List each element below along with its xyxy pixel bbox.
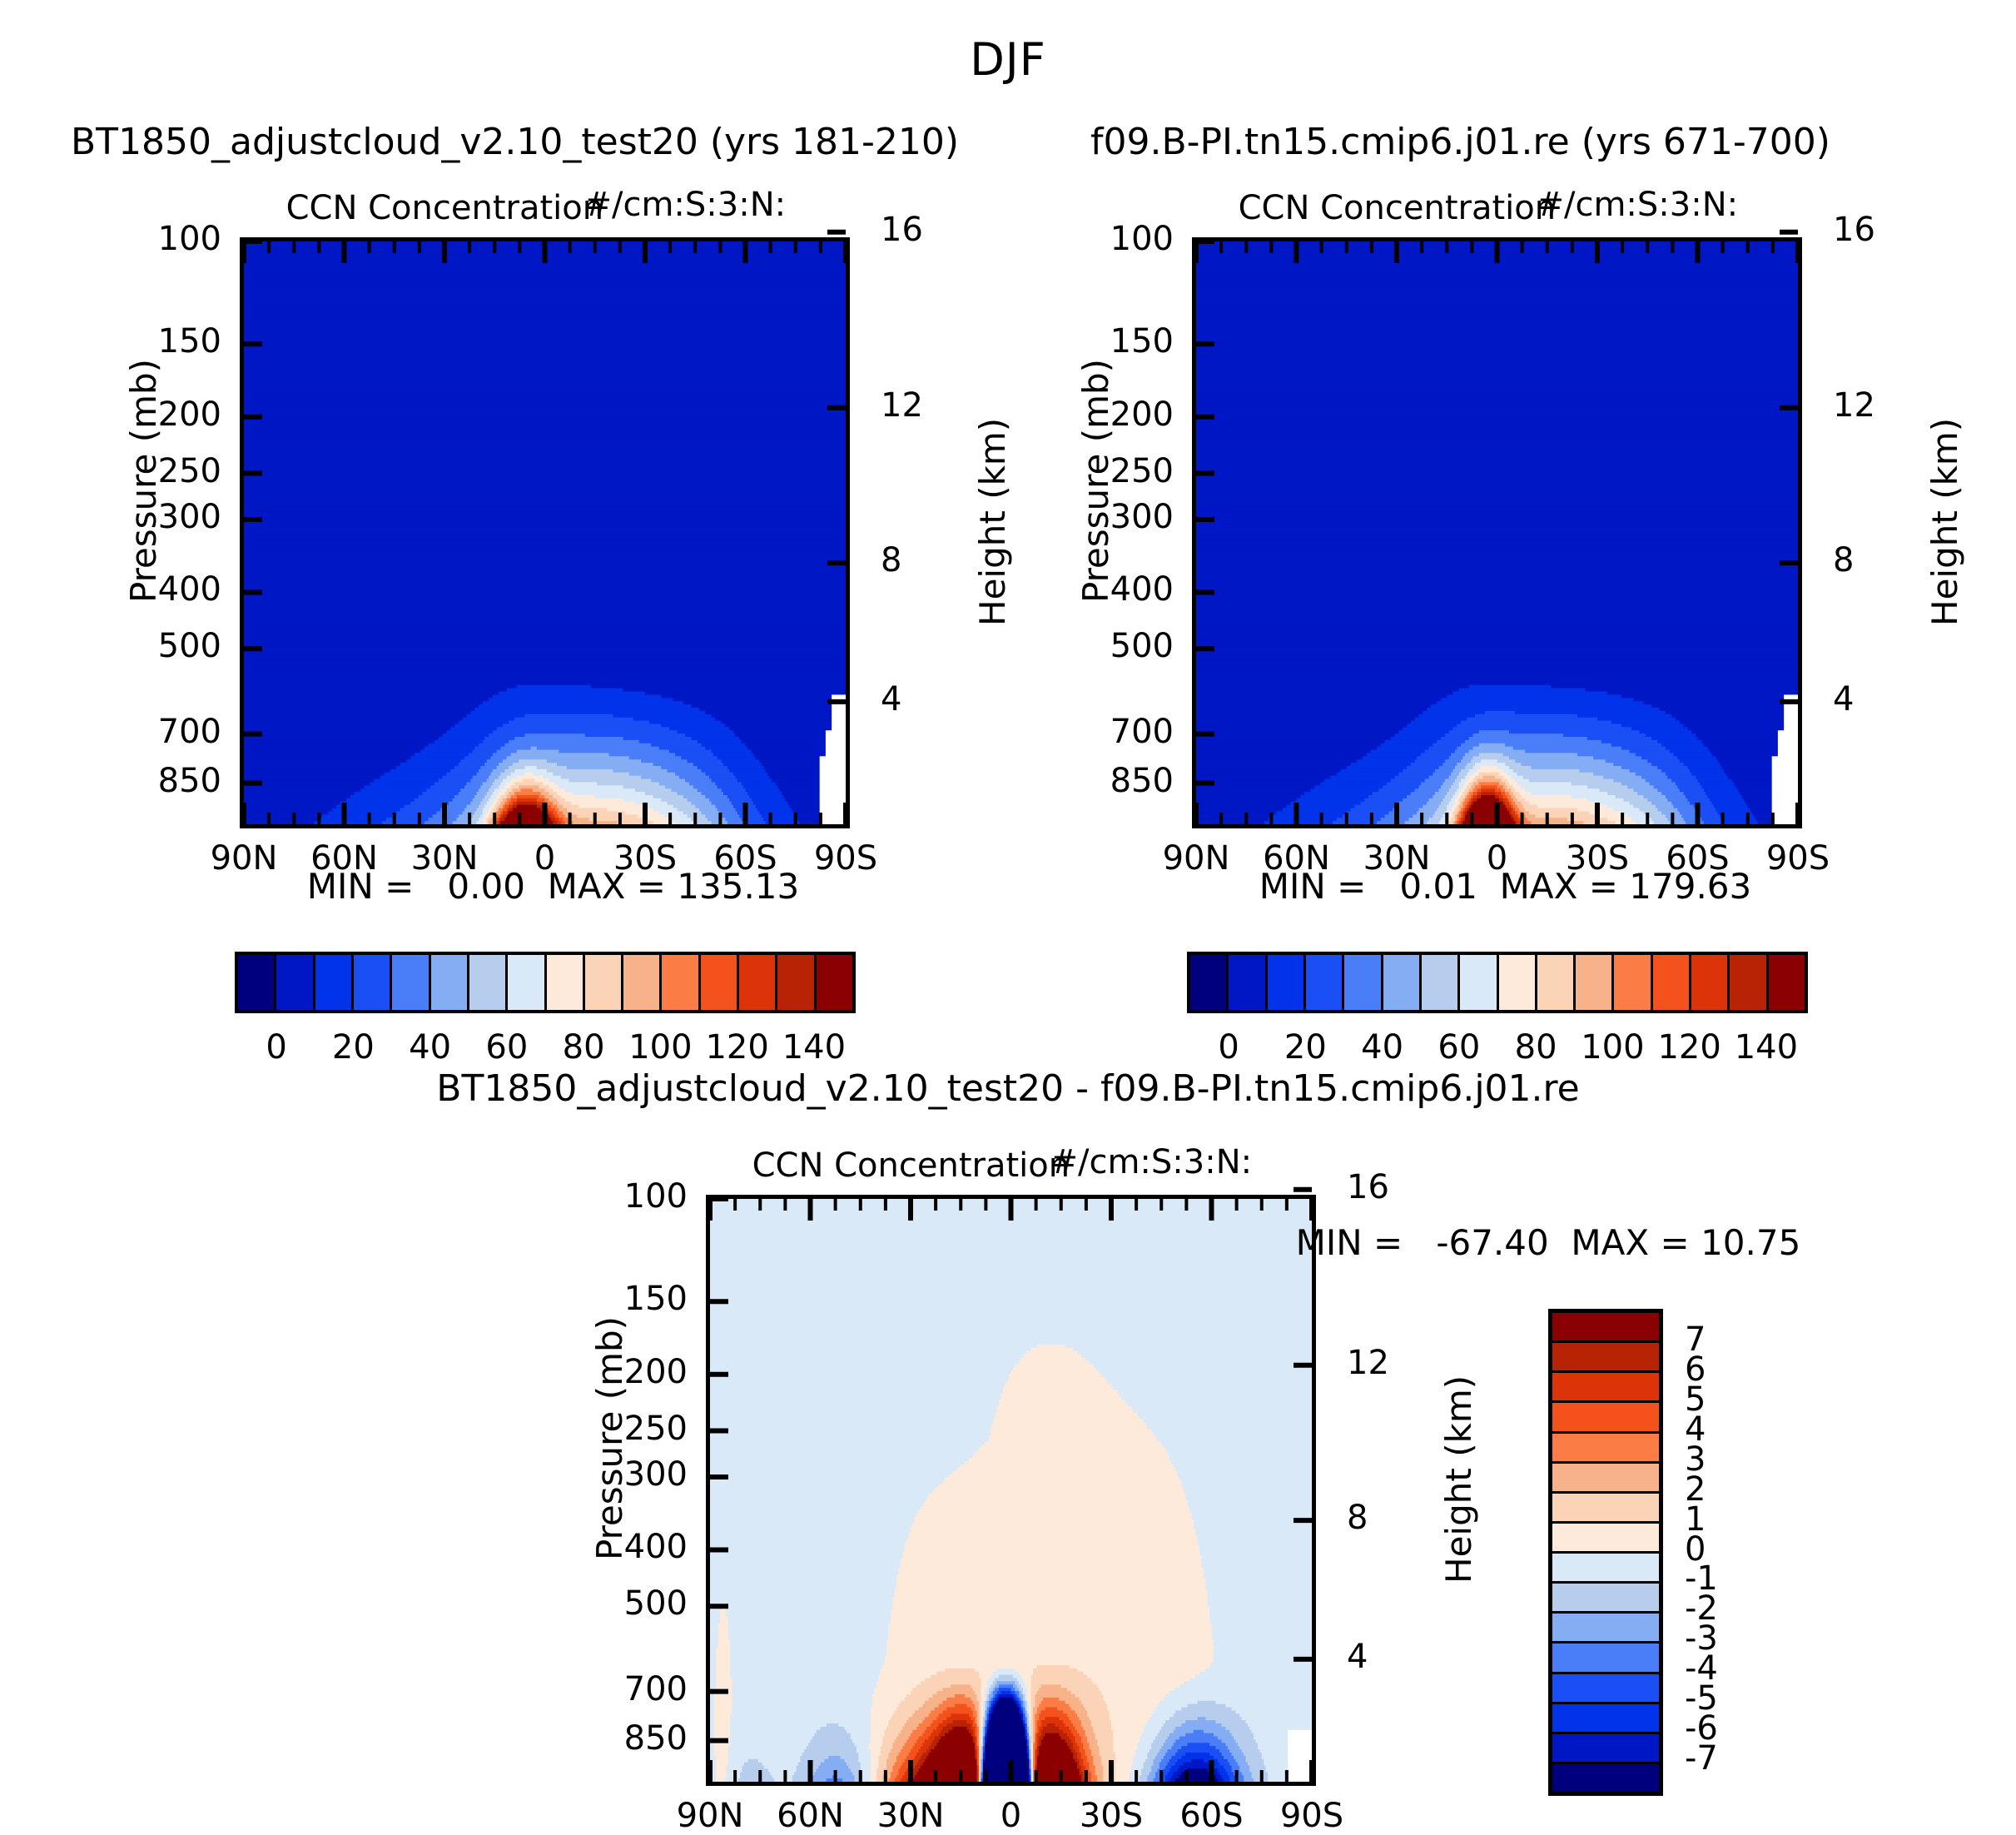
diff-colorbar-swatch — [1552, 1674, 1659, 1704]
diff-colorbar-swatch — [1552, 1614, 1659, 1644]
main-colorbar-right-swatch — [1383, 955, 1422, 1010]
right-plot-pressure-tick: 300 — [1110, 498, 1174, 536]
diff-colorbar-swatch — [1552, 1704, 1659, 1734]
main-colorbar-left-tick: 80 — [563, 1028, 605, 1067]
main-colorbar-left-swatch — [585, 955, 623, 1010]
left-plot — [240, 237, 850, 828]
diff-plot-pressure-tick: 850 — [624, 1719, 688, 1758]
left-plot-height-tick: 4 — [881, 680, 901, 719]
diff-colorbar-swatch — [1552, 1554, 1659, 1584]
main-colorbar-left[interactable] — [235, 952, 856, 1013]
main-colorbar-right-swatch — [1422, 955, 1460, 1010]
main-colorbar-right-swatch — [1229, 955, 1267, 1010]
main-colorbar-left-tick: 60 — [485, 1028, 528, 1067]
diff-panel-title: BT1850_adjustcloud_v2.10_test20 - f09.B-… — [0, 1067, 2016, 1110]
main-colorbar-left-swatch — [547, 955, 585, 1010]
right-minmax-max-value: 179.63 — [1629, 866, 1751, 907]
diff-colorbar-swatch — [1552, 1734, 1659, 1764]
main-colorbar-left-swatch — [276, 955, 315, 1010]
diff-minmax-min-value: -67.40 — [1436, 1222, 1548, 1263]
diff-colorbar-swatch — [1552, 1644, 1659, 1673]
left-plot-pressure-tick: 200 — [158, 395, 221, 434]
main-colorbar-right-tick: 140 — [1735, 1028, 1798, 1067]
left-plot-lat-tick: 90N — [211, 839, 278, 878]
main-colorbar-right-tick: 20 — [1284, 1028, 1327, 1067]
main-colorbar-right-swatch — [1499, 955, 1537, 1010]
diff-plot-lat-tick: 30S — [1080, 1797, 1143, 1835]
main-colorbar-right-swatch — [1653, 955, 1691, 1010]
right-plot-height-tick: 8 — [1833, 541, 1854, 579]
diff-plot-height-tick: 4 — [1347, 1638, 1368, 1676]
left-plot-height-axis-label: Height (km) — [972, 418, 1013, 626]
right-plot-pressure-tick: 850 — [1110, 762, 1174, 800]
diff-colorbar-swatch — [1552, 1373, 1659, 1403]
main-colorbar-right-swatch — [1537, 955, 1576, 1010]
main-colorbar-right-tick: 100 — [1581, 1028, 1644, 1067]
left-plot-height-tick: 16 — [881, 211, 923, 249]
right-plot-pressure-tick: 700 — [1110, 713, 1174, 751]
right-plot-pressure-tick: 500 — [1110, 627, 1174, 665]
main-colorbar-left-swatch — [739, 955, 777, 1010]
diff-plot-lat-tick: 30N — [877, 1797, 945, 1835]
main-colorbar-right-swatch — [1460, 955, 1498, 1010]
diff-colorbar-swatch — [1552, 1313, 1659, 1343]
main-colorbar-left-swatch — [623, 955, 662, 1010]
figure-title: DJF — [0, 33, 2016, 86]
main-colorbar-right-swatch — [1691, 955, 1730, 1010]
diff-plot-lat-tick: 60S — [1179, 1797, 1243, 1835]
diff-plot-lat-tick: 60N — [777, 1797, 844, 1835]
diff-plot-variable-label: CCN Concentration — [752, 1146, 1070, 1185]
left-plot-height-tick: 8 — [881, 541, 901, 579]
diff-colorbar-swatch — [1552, 1343, 1659, 1373]
right-plot-height-tick: 12 — [1833, 386, 1875, 425]
main-colorbar-left-swatch — [354, 955, 392, 1010]
diff-minmax: MIN = -67.40 MAX = 10.75 — [1296, 1222, 1801, 1263]
main-colorbar-right-swatch — [1730, 955, 1768, 1010]
right-plot-pressure-tick: 200 — [1110, 395, 1174, 434]
left-plot-pressure-tick: 150 — [158, 322, 221, 361]
diff-colorbar[interactable] — [1548, 1309, 1663, 1796]
left-plot-pressure-tick: 850 — [158, 762, 221, 800]
diff-plot-pressure-tick: 400 — [624, 1528, 688, 1566]
diff-colorbar-swatch — [1552, 1494, 1659, 1524]
right-plot-variable-label: CCN Concentration — [1239, 189, 1556, 227]
diff-colorbar-swatch — [1552, 1434, 1659, 1464]
right-plot-lat-tick: 90N — [1163, 839, 1230, 878]
diff-plot-pressure-tick: 100 — [624, 1177, 688, 1216]
main-colorbar-left-tick: 20 — [332, 1028, 375, 1067]
diff-plot-pressure-tick: 300 — [624, 1455, 688, 1494]
main-colorbar-right-tick: 80 — [1515, 1028, 1557, 1067]
left-plot-pressure-tick: 250 — [158, 452, 221, 490]
diff-plot-pressure-tick: 200 — [624, 1353, 688, 1391]
main-colorbar-right-tick: 40 — [1361, 1028, 1403, 1067]
diff-colorbar-swatch — [1552, 1764, 1659, 1792]
left-plot-pressure-tick: 500 — [158, 627, 221, 665]
left-plot-lat-tick: 90S — [814, 839, 877, 878]
main-colorbar-left-swatch — [431, 955, 469, 1010]
diff-plot-height-tick: 16 — [1347, 1168, 1389, 1206]
diff-plot-pressure-tick: 250 — [624, 1410, 688, 1448]
diff-colorbar-swatch — [1552, 1464, 1659, 1494]
main-colorbar-left-swatch — [817, 955, 852, 1010]
diff-plot-lat-tick: 90N — [677, 1797, 744, 1835]
diff-minmax-min-label: MIN = — [1296, 1222, 1403, 1263]
main-colorbar-left-swatch — [777, 955, 816, 1010]
main-colorbar-right-swatch — [1306, 955, 1344, 1010]
left-panel-title: BT1850_adjustcloud_v2.10_test20 (yrs 181… — [71, 121, 959, 163]
right-minmax: MIN = 0.01 MAX = 179.63 — [1259, 866, 1752, 907]
diff-minmax-max-label: MAX = — [1571, 1222, 1689, 1263]
left-minmax: MIN = 0.00 MAX = 135.13 — [307, 866, 800, 907]
right-plot-pressure-tick: 100 — [1110, 220, 1174, 258]
right-plot-height-tick: 4 — [1833, 680, 1854, 719]
main-colorbar-left-swatch — [315, 955, 354, 1010]
left-plot-units-label: #/cm:S:3:N: — [583, 186, 786, 224]
diff-colorbar-tick: -7 — [1685, 1739, 1718, 1778]
right-plot-units-label: #/cm:S:3:N: — [1536, 186, 1738, 224]
main-colorbar-right-swatch — [1614, 955, 1652, 1010]
right-plot-height-axis-label: Height (km) — [1924, 418, 1965, 626]
diff-minmax-max-value: 10.75 — [1701, 1222, 1800, 1263]
main-colorbar-right-swatch — [1190, 955, 1229, 1010]
main-colorbar-left-tick: 0 — [266, 1028, 286, 1067]
main-colorbar-left-swatch — [662, 955, 700, 1010]
diff-plot-height-axis-label: Height (km) — [1438, 1375, 1479, 1584]
main-colorbar-right-swatch — [1576, 955, 1614, 1010]
diff-colorbar-swatch — [1552, 1403, 1659, 1433]
main-colorbar-right-tick: 120 — [1657, 1028, 1721, 1067]
diff-plot-pressure-tick: 700 — [624, 1670, 688, 1708]
left-minmax-max-label: MAX = — [548, 866, 666, 907]
main-colorbar-left-swatch — [392, 955, 430, 1010]
diff-plot-units-label: #/cm:S:3:N: — [1050, 1143, 1252, 1181]
main-colorbar-right-tick: 60 — [1438, 1028, 1480, 1067]
right-plot-pressure-tick: 250 — [1110, 452, 1174, 490]
right-panel-title: f09.B-PI.tn15.cmip6.j01.re (yrs 671-700) — [1090, 121, 1830, 163]
diff-plot-pressure-tick: 500 — [624, 1584, 688, 1623]
left-minmax-max-value: 135.13 — [677, 866, 799, 907]
main-colorbar-right-swatch — [1769, 955, 1805, 1010]
main-colorbar-left-swatch — [469, 955, 508, 1010]
main-colorbar-right-tick: 0 — [1218, 1028, 1239, 1067]
left-plot-pressure-tick: 700 — [158, 713, 221, 751]
diff-plot-pressure-tick: 150 — [624, 1280, 688, 1318]
diff-plot — [706, 1195, 1316, 1786]
main-colorbar-right[interactable] — [1187, 952, 1808, 1013]
diff-plot-lat-tick: 90S — [1280, 1797, 1343, 1835]
left-plot-pressure-tick: 100 — [158, 220, 221, 258]
main-colorbar-right-swatch — [1344, 955, 1383, 1010]
left-plot-height-tick: 12 — [881, 386, 923, 425]
diff-plot-pressure-axis-label: Pressure (mb) — [589, 1316, 630, 1560]
diff-plot-height-tick: 8 — [1347, 1499, 1368, 1537]
diff-plot-height-tick: 12 — [1347, 1344, 1389, 1382]
diff-colorbar-swatch — [1552, 1524, 1659, 1554]
right-minmax-max-label: MAX = — [1500, 866, 1618, 907]
right-plot-pressure-tick: 400 — [1110, 570, 1174, 609]
left-plot-variable-label: CCN Concentration — [286, 189, 603, 227]
left-plot-pressure-tick: 300 — [158, 498, 221, 536]
left-plot-pressure-tick: 400 — [158, 570, 221, 609]
main-colorbar-left-swatch — [238, 955, 276, 1010]
main-colorbar-left-swatch — [508, 955, 546, 1010]
right-plot-height-tick: 16 — [1833, 211, 1875, 249]
main-colorbar-left-tick: 100 — [628, 1028, 692, 1067]
left-plot-pressure-axis-label: Pressure (mb) — [123, 359, 164, 603]
right-minmax-min-value: 0.01 — [1399, 866, 1477, 907]
right-minmax-min-label: MIN = — [1259, 866, 1367, 907]
main-colorbar-right-swatch — [1268, 955, 1306, 1010]
diff-plot-lat-tick: 0 — [1001, 1797, 1021, 1835]
main-colorbar-left-tick: 120 — [705, 1028, 768, 1067]
left-minmax-min-value: 0.00 — [447, 866, 525, 907]
main-colorbar-left-swatch — [701, 955, 739, 1010]
diff-colorbar-swatch — [1552, 1584, 1659, 1614]
main-colorbar-left-tick: 140 — [782, 1028, 846, 1067]
main-colorbar-left-tick: 40 — [409, 1028, 451, 1067]
right-plot-pressure-axis-label: Pressure (mb) — [1075, 359, 1116, 603]
right-plot — [1192, 237, 1802, 828]
left-minmax-min-label: MIN = — [307, 866, 415, 907]
right-plot-pressure-tick: 150 — [1110, 322, 1174, 361]
right-plot-lat-tick: 90S — [1766, 839, 1830, 878]
